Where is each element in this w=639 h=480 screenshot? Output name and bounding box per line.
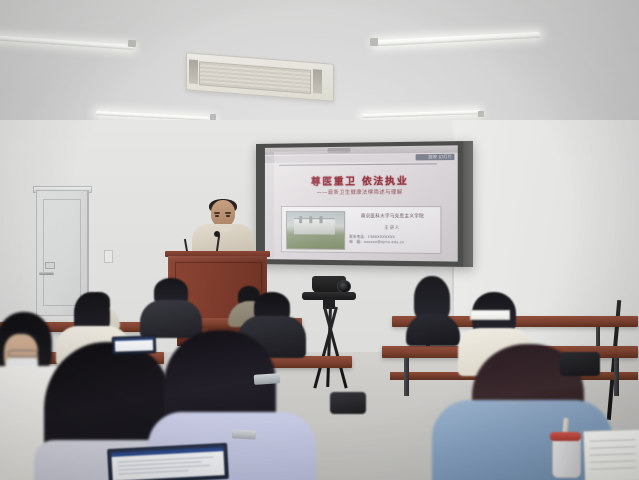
slide-photo-window-2 [309,216,312,223]
door-handle-icon[interactable] [39,272,54,275]
presentation-tab-1[interactable] [328,148,351,153]
slide-presenter: 主讲人 [349,224,436,231]
presenter-eye-left [215,215,219,217]
slide-photo-window-3 [319,216,322,223]
laptop-content-line-4 [118,470,188,475]
ceiling-light-cap-left-upper [128,40,136,48]
laptop-mid-left[interactable] [112,335,157,355]
slide-campus-photo [286,211,345,250]
slide-title: 尊医重卫 依法执业 [265,173,458,188]
drink-cup[interactable] [552,437,581,478]
slide-organization: 南京医科大学马克思主义学院 [349,213,436,219]
bag-under-desk [560,352,600,376]
notebook-line-3 [590,453,636,456]
bag-under-desk-2 [330,392,366,414]
slide-photo-window-1 [299,216,302,223]
notebook-line-2 [590,446,636,449]
device-on-desk-center[interactable] [254,373,281,385]
door-panel [43,199,81,306]
notebook-line-1 [589,439,635,442]
notebook-line-4 [590,460,636,463]
wall-switch-icon[interactable] [104,250,113,263]
desk-mid-right-leg-2 [614,358,619,396]
ac-vent-right [313,69,322,94]
presenter-brow-right [225,212,231,214]
presenter-brow-left [214,212,220,214]
slide-divider-rule [279,163,437,165]
slide-header-band [265,154,458,163]
attendee-mid-2 [140,278,202,336]
ceiling-light-cap-right-upper [370,38,378,46]
slide-info-block: 南京医科大学马克思主义学院 主讲人 联系电话：138XXXXXXXX 邮 箱：x… [281,206,441,254]
laptop-front[interactable] [107,443,229,480]
laptop-mid-left-screen [115,338,153,351]
classroom-photo: 放映 幻灯片 尊医重卫 依法执业 ——最新卫生健康法律简述与理解 南京医科大学马… [0,0,639,480]
drink-cup-lid [550,432,581,441]
attendee-mid-4 [404,276,460,342]
ptz-camera-icon [312,276,346,293]
desk-mid-right-leg-1 [404,358,409,396]
screen-frame-right-edge [463,141,473,267]
microphone-head-icon [214,231,220,237]
slide-contact-info: 联系电话：138XXXXXXXX 邮 箱：xxxxxx@njmu.edu.cn [349,235,438,246]
slide-subtitle: ——最新卫生健康法律简述与理解 [265,188,458,196]
projected-slide: 放映 幻灯片 尊医重卫 依法执业 ——最新卫生健康法律简述与理解 南京医科大学马… [265,145,458,261]
projection-screen: 放映 幻灯片 尊医重卫 依法执业 ——最新卫生健康法律简述与理解 南京医科大学马… [256,141,473,267]
notebook-line-5 [590,467,636,470]
door-lock-icon [45,262,55,269]
laptop-screen [111,447,224,480]
paper-on-desk-back-right [470,310,510,320]
ac-vent-left [189,59,198,84]
presenter-eye-right [226,215,230,217]
open-notebook[interactable] [583,429,639,480]
presenter-person [192,200,254,258]
ac-grille [199,61,311,94]
ceiling-light-cap-right-lower [478,111,484,117]
attendee-mid-4-torso [406,314,460,346]
device-on-desk-left[interactable] [232,429,256,439]
